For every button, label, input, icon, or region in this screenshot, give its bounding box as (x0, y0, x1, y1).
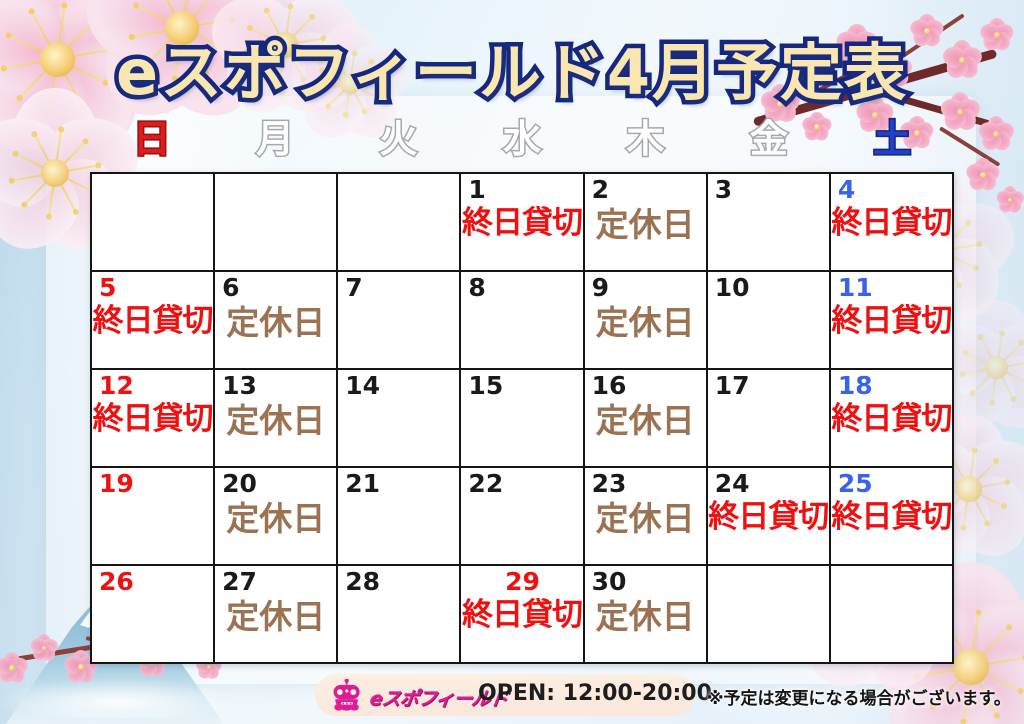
footer-bar: eスポフィールド OPEN: 12:00-20:00 ※予定は変更になる場合がご… (0, 668, 1024, 724)
calendar-day-cell[interactable]: 9定休日 (585, 272, 706, 368)
weekday-label-0: 日 (90, 120, 213, 158)
day-number: 30 (592, 569, 700, 595)
day-number: 2 (592, 177, 700, 203)
calendar-day-cell[interactable]: 25終日貸切 (831, 468, 952, 564)
full-day-reserved-label: 終日貸切 (461, 208, 582, 239)
regular-holiday-label: 定休日 (585, 404, 706, 437)
calendar-day-cell[interactable]: 30定休日 (585, 566, 706, 662)
full-day-reserved-label: 終日貸切 (461, 600, 582, 631)
weekday-label-4: 木 (584, 120, 707, 158)
full-day-reserved-label: 終日貸切 (831, 208, 952, 239)
full-day-reserved-label: 終日貸切 (92, 404, 213, 435)
calendar-day-cell[interactable]: 12終日貸切 (92, 370, 213, 466)
day-number: 19 (99, 471, 207, 497)
day-number: 8 (468, 275, 576, 301)
page-title: eスポフィールド4月予定表 (0, 22, 1024, 112)
calendar-day-cell[interactable]: 11終日貸切 (831, 272, 952, 368)
day-number: 20 (222, 471, 330, 497)
regular-holiday-label: 定休日 (585, 208, 706, 241)
calendar-day-cell[interactable]: 20定休日 (215, 468, 336, 564)
calendar-day-cell[interactable]: 29終日貸切 (461, 566, 582, 662)
day-number: 11 (838, 275, 946, 301)
day-number: 25 (838, 471, 946, 497)
day-number: 13 (222, 373, 330, 399)
regular-holiday-label: 定休日 (585, 600, 706, 633)
day-number: 18 (838, 373, 946, 399)
calendar-empty-cell (338, 174, 459, 270)
day-number: 21 (345, 471, 453, 497)
weekday-label-2: 火 (337, 120, 460, 158)
calendar-empty-cell (215, 174, 336, 270)
weekday-label-3: 水 (460, 120, 583, 158)
day-number: 26 (99, 569, 207, 595)
full-day-reserved-label: 終日貸切 (831, 404, 952, 435)
calendar-empty-cell (708, 566, 829, 662)
day-number: 12 (99, 373, 207, 399)
calendar-day-cell[interactable]: 26 (92, 566, 213, 662)
calendar-day-cell[interactable]: 14 (338, 370, 459, 466)
calendar-grid: 1終日貸切2定休日34終日貸切5終日貸切6定休日789定休日1011終日貸切12… (90, 172, 954, 664)
regular-holiday-label: 定休日 (215, 502, 336, 535)
calendar-empty-cell (92, 174, 213, 270)
calendar-day-cell[interactable]: 23定休日 (585, 468, 706, 564)
day-number: 7 (345, 275, 453, 301)
calendar-day-cell[interactable]: 16定休日 (585, 370, 706, 466)
calendar-day-cell[interactable]: 10 (708, 272, 829, 368)
calendar-day-cell[interactable]: 8 (461, 272, 582, 368)
calendar-day-cell[interactable]: 2定休日 (585, 174, 706, 270)
day-number: 28 (345, 569, 453, 595)
day-number: 4 (838, 177, 946, 203)
calendar-day-cell[interactable]: 19 (92, 468, 213, 564)
day-number: 15 (468, 373, 576, 399)
calendar-day-cell[interactable]: 3 (708, 174, 829, 270)
day-number: 10 (715, 275, 823, 301)
weekday-label-5: 金 (707, 120, 830, 158)
day-number: 29 (468, 569, 576, 595)
day-number: 23 (592, 471, 700, 497)
day-number: 17 (715, 373, 823, 399)
regular-holiday-label: 定休日 (585, 306, 706, 339)
calendar-day-cell[interactable]: 7 (338, 272, 459, 368)
full-day-reserved-label: 終日貸切 (92, 306, 213, 337)
calendar-day-cell[interactable]: 21 (338, 468, 459, 564)
weekday-label-6: 土 (831, 120, 954, 158)
calendar-day-cell[interactable]: 13定休日 (215, 370, 336, 466)
calendar-day-cell[interactable]: 24終日貸切 (708, 468, 829, 564)
calendar-day-cell[interactable]: 18終日貸切 (831, 370, 952, 466)
full-day-reserved-label: 終日貸切 (831, 502, 952, 533)
day-number: 24 (715, 471, 823, 497)
schedule-change-note: ※予定は変更になる場合がございます。 (707, 684, 1011, 709)
day-number: 6 (222, 275, 330, 301)
calendar-day-cell[interactable]: 22 (461, 468, 582, 564)
day-number: 16 (592, 373, 700, 399)
calendar-day-cell[interactable]: 17 (708, 370, 829, 466)
day-number: 5 (99, 275, 207, 301)
poster-stage: eスポフィールド4月予定表 日月火水木金土 1終日貸切2定休日34終日貸切5終日… (0, 0, 1024, 724)
regular-holiday-label: 定休日 (585, 502, 706, 535)
full-day-reserved-label: 終日貸切 (708, 502, 829, 533)
calendar-day-cell[interactable]: 5終日貸切 (92, 272, 213, 368)
day-number: 27 (222, 569, 330, 595)
regular-holiday-label: 定休日 (215, 306, 336, 339)
calendar-empty-cell (831, 566, 952, 662)
calendar-day-cell[interactable]: 6定休日 (215, 272, 336, 368)
weekday-label-1: 月 (213, 120, 336, 158)
day-number: 14 (345, 373, 453, 399)
calendar-day-cell[interactable]: 4終日貸切 (831, 174, 952, 270)
full-day-reserved-label: 終日貸切 (831, 306, 952, 337)
day-number: 3 (715, 177, 823, 203)
open-hours-text: OPEN: 12:00-20:00 (478, 681, 712, 706)
day-number: 22 (468, 471, 576, 497)
calendar-day-cell[interactable]: 1終日貸切 (461, 174, 582, 270)
calendar-day-cell[interactable]: 15 (461, 370, 582, 466)
day-number: 1 (468, 177, 576, 203)
weekday-header-row: 日月火水木金土 (90, 112, 954, 166)
robot-mascot-icon (330, 679, 364, 711)
day-number: 9 (592, 275, 700, 301)
calendar-day-cell[interactable]: 27定休日 (215, 566, 336, 662)
calendar-day-cell[interactable]: 28 (338, 566, 459, 662)
regular-holiday-label: 定休日 (215, 600, 336, 633)
regular-holiday-label: 定休日 (215, 404, 336, 437)
